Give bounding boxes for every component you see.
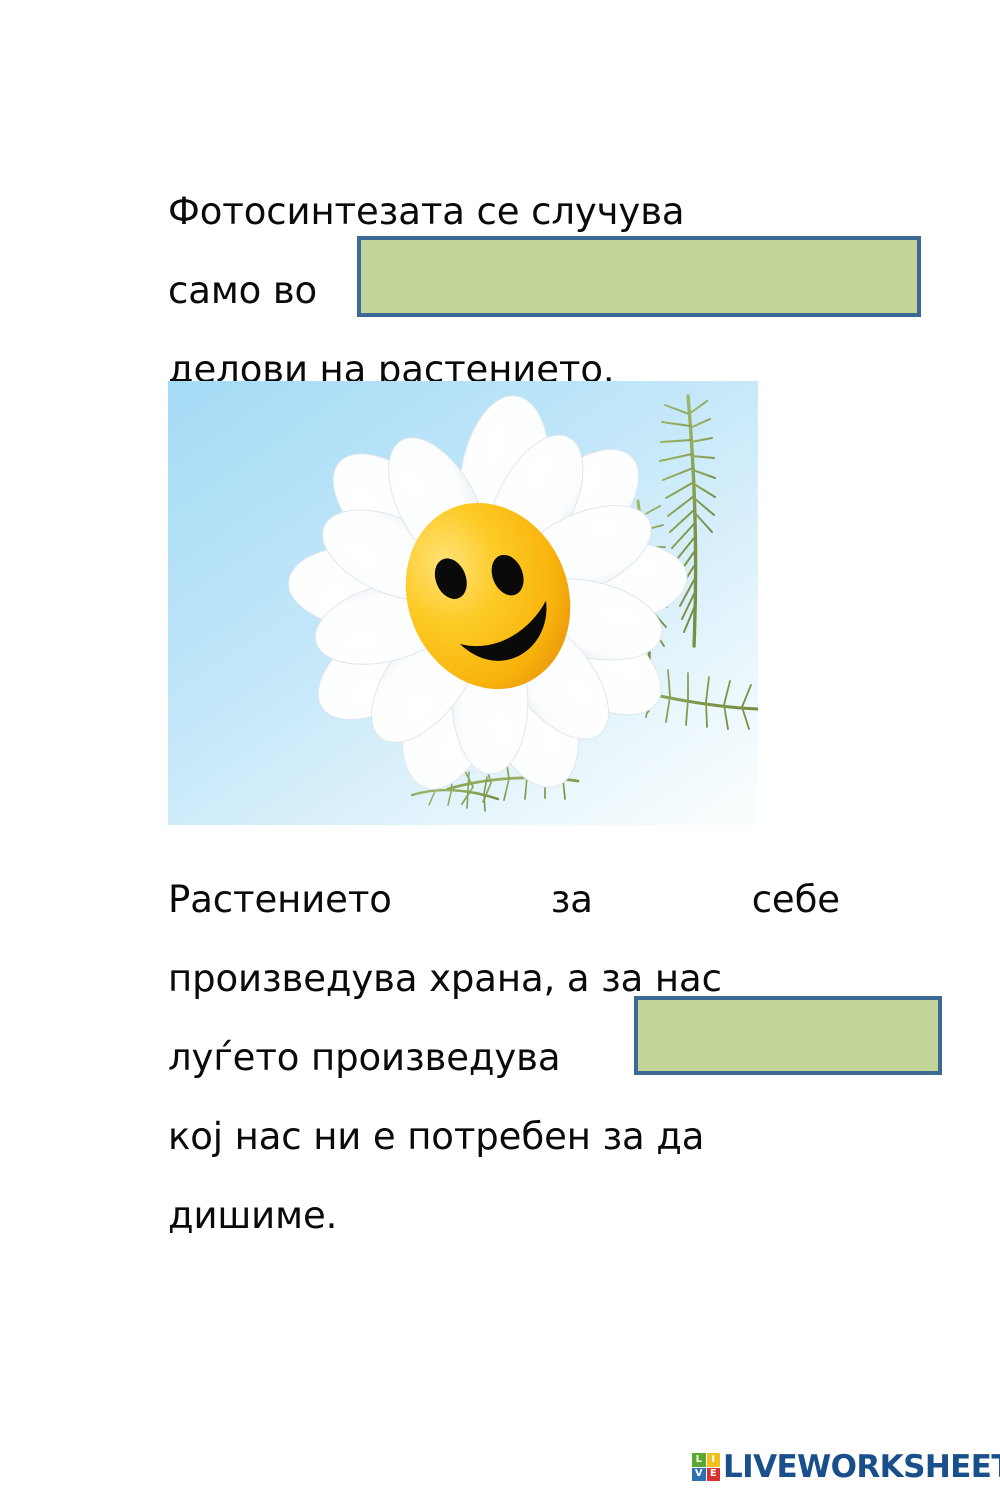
liveworksheets-logo: L I V E LIVEWORKSHEETS [692, 1448, 1000, 1486]
answer-input-2[interactable] [634, 996, 942, 1075]
paragraph-two-line-5: дишиме. [168, 1176, 840, 1255]
logo-letter-i: I [707, 1453, 721, 1467]
logo-letter-e: E [707, 1468, 721, 1482]
liveworksheets-wordmark: LIVEWORKSHEETS [723, 1449, 1000, 1485]
logo-letter-v: V [692, 1468, 706, 1482]
paragraph-two-line-1: Растението за себе [168, 860, 840, 939]
liveworksheets-mark-icon: L I V E [692, 1453, 720, 1481]
paragraph-two-word-3: себе [752, 860, 840, 939]
logo-letter-l: L [692, 1453, 706, 1467]
paragraph-two-word-1: Растението [168, 860, 392, 939]
answer-input-1[interactable] [357, 236, 921, 317]
worksheet-page: Фотосинтезата се случува само во делови … [0, 0, 1000, 1500]
paragraph-two-line-4: кој нас ни е потребен за да [168, 1097, 840, 1176]
paragraph-two-word-2: за [551, 860, 593, 939]
daisy-flower-image [168, 381, 758, 825]
